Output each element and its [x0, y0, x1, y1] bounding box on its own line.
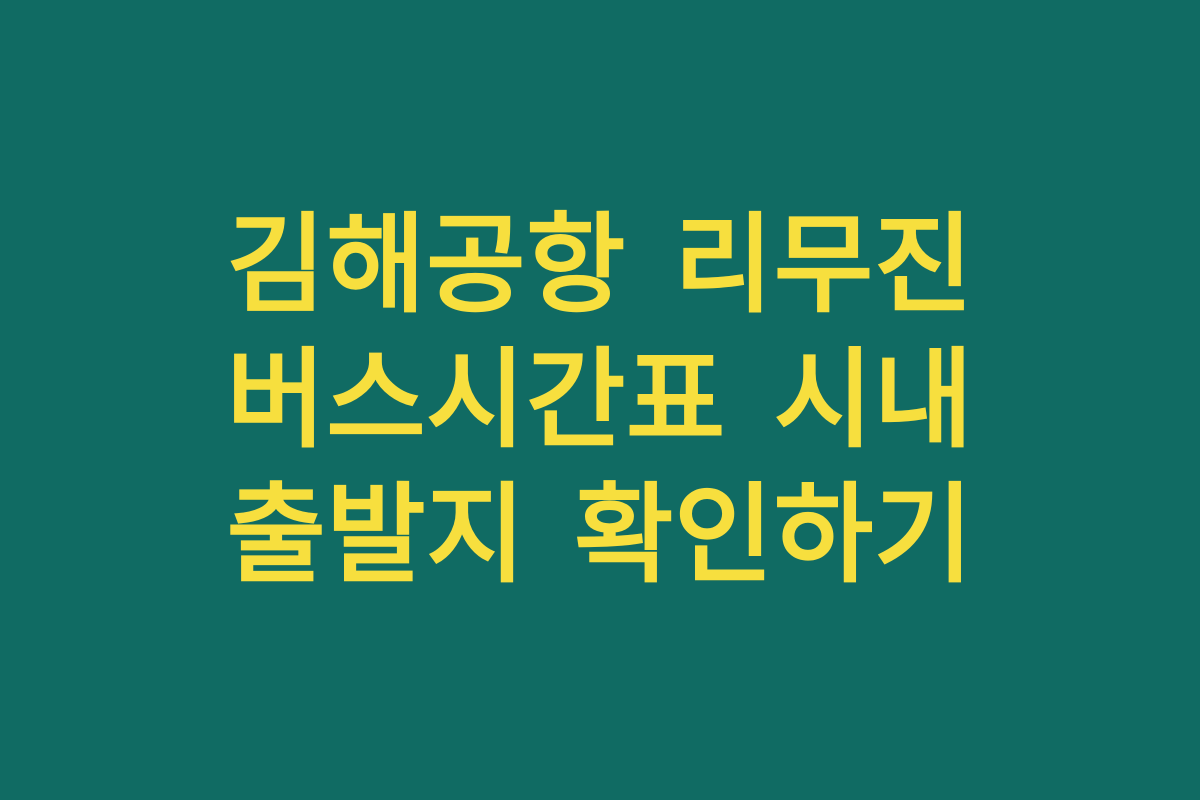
title-card: 김해공항 리무진 버스시간표 시내 출발지 확인하기 — [0, 0, 1200, 800]
headline-container: 김해공항 리무진 버스시간표 시내 출발지 확인하기 — [84, 198, 1116, 603]
page-title: 김해공항 리무진 버스시간표 시내 출발지 확인하기 — [84, 198, 1116, 603]
